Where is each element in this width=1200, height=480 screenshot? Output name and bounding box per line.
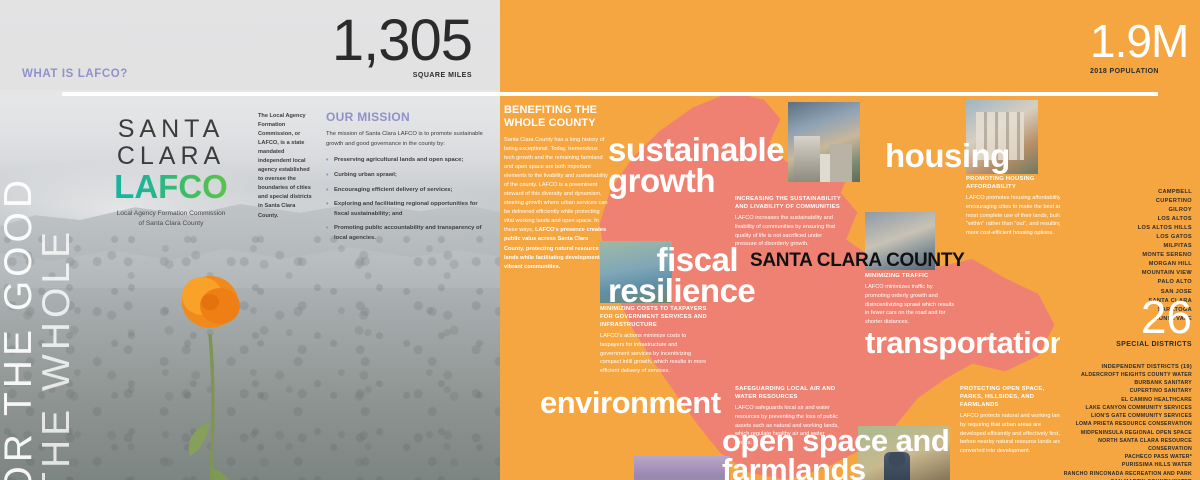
stat-special-districts: 26 SPECIAL DISTRICTS <box>1116 294 1192 348</box>
independent-district-item: EL CAMINO HEALTHCARE <box>1060 396 1192 404</box>
caption-sustainability-body: LAFCO increases the sustainability and l… <box>735 214 843 249</box>
logo-line-santa: SANTA <box>86 116 256 143</box>
theme-word-transportation: transportation <box>865 328 1060 357</box>
benefiting-column: BENEFITING THE WHOLE COUNTY Santa Clara … <box>504 104 608 272</box>
caption-minimizing-traffic-body: LAFCO minimizes traffic by promoting ord… <box>865 283 957 327</box>
stat-square-miles-value: 1,305 <box>322 12 472 70</box>
independent-district-item: MIDPENINSULA REGIONAL OPEN SPACE <box>1060 429 1192 437</box>
stat-population-2018-caption: 2018 POPULATION <box>1090 67 1188 77</box>
caption-safeguarding-air-water-heading: SAFEGUARDING LOCAL AIR AND WATER RESOURC… <box>735 385 843 401</box>
photo-urban-street <box>788 102 860 182</box>
independent-district-item: BURBANK SANITARY <box>1060 379 1192 387</box>
mission-bullet: Preserving agricultural lands and open s… <box>326 156 492 166</box>
logo-wordmark: LAFCO <box>86 170 256 205</box>
mission-bullet: Curbing urban sprawl; <box>326 171 492 181</box>
stats-banner: 1.9M 2018 POPULATION 2.3M PROJECTED POPU… <box>500 0 1200 96</box>
page-title: WHAT IS LAFCO? <box>22 68 128 80</box>
independent-district-item: LAKE CANYON COMMUNITY SERVICES <box>1060 404 1192 412</box>
mission-column: OUR MISSION The mission of Santa Clara L… <box>326 110 492 248</box>
caption-safeguarding-air-water-body: LAFCO safeguards local air and water res… <box>735 404 843 448</box>
lafco-logo: SANTA CLARA LAFCO Local Agency Formation… <box>86 116 256 228</box>
mission-bullet-list: Preserving agricultural lands and open s… <box>326 156 492 243</box>
districts-lists: INDEPENDENT DISTRICTS (19) ALDERCROFT HE… <box>1060 358 1192 480</box>
city-list-item: LOS ALTOS HILLS <box>1138 224 1192 233</box>
poppy-leaf-left <box>189 422 209 456</box>
districts-panel: CAMPBELLCUPERTINOGILROYLOS ALTOSLOS ALTO… <box>1060 96 1200 480</box>
caption-minimizing-traffic-heading: MINIMIZING TRAFFIC <box>865 272 957 280</box>
caption-minimizing-costs: MINIMIZING COSTS TO TAXPAYERS FOR GOVERN… <box>600 305 708 376</box>
independent-district-item: LION'S GATE COMMUNITY SERVICES <box>1060 412 1192 420</box>
mission-intro: The mission of Santa Clara LAFCO is to p… <box>326 130 492 149</box>
city-list-item: MORGAN HILL <box>1138 260 1192 269</box>
poppy-stem <box>206 334 213 480</box>
mission-title: OUR MISSION <box>326 110 492 124</box>
poppy-center <box>201 294 219 310</box>
poppy-flower-illustration <box>176 272 256 368</box>
caption-protecting-open-space-body: LAFCO protects natural and working lands… <box>960 412 1060 456</box>
city-list-item: GILROY <box>1138 206 1192 215</box>
poppy-leaf-right <box>211 468 232 480</box>
caption-housing-affordability: PROMOTING HOUSING AFFORDABILITY LAFCO pr… <box>966 175 1060 238</box>
tagline-line-2: OF THE WHOLE <box>37 228 76 480</box>
map-county-label: SANTA CLARA COUNTY <box>750 251 965 270</box>
caption-housing-affordability-body: LAFCO promotes housing affordability by … <box>966 194 1060 238</box>
tagline-line-1: FOR THE GOOD <box>0 176 38 480</box>
mission-bullet: Encouraging efficient delivery of servic… <box>326 186 492 196</box>
independent-district-item: RANCHO RINCONADA RECREATION AND PARK <box>1060 470 1192 478</box>
benefiting-body: Santa Clara County has a long history of… <box>504 136 608 272</box>
mission-bullet: Promoting public accountability and tran… <box>326 224 492 243</box>
city-list-item: MOUNTAIN VIEW <box>1138 269 1192 278</box>
independent-districts-heading: INDEPENDENT DISTRICTS (19) <box>1060 364 1192 370</box>
independent-district-item: PURISSIMA HILLS WATER <box>1060 461 1192 469</box>
caption-minimizing-costs-body: LAFCO's actions minimize costs to taxpay… <box>600 332 708 376</box>
caption-sustainability-heading: INCREASING THE SUSTAINABILITY AND LIVABI… <box>735 195 843 211</box>
independent-district-item: CUPERTINO SANITARY <box>1060 387 1192 395</box>
caption-housing-affordability-heading: PROMOTING HOUSING AFFORDABILITY <box>966 175 1060 191</box>
theme-word-fiscal-resilience: fiscal resilience <box>608 244 738 307</box>
logo-line-clara: CLARA <box>86 143 256 170</box>
city-list-item: CAMPBELL <box>1138 188 1192 197</box>
caption-safeguarding-air-water: SAFEGUARDING LOCAL AIR AND WATER RESOURC… <box>735 385 843 448</box>
theme-word-sustainable-growth: sustainable growth <box>608 134 788 197</box>
city-list-item: MILPITAS <box>1138 242 1192 251</box>
city-list-item: LOS ALTOS <box>1138 215 1192 224</box>
mission-bullet: Exploring and facilitating regional oppo… <box>326 200 492 219</box>
independent-districts-list: ALDERCROFT HEIGHTS COUNTY WATERBURBANK S… <box>1060 371 1192 480</box>
benefiting-body-regular: Santa Clara County has a long history of… <box>504 137 608 233</box>
infographic-page: FOR THE GOOD OF THE WHOLE WHAT IS LAFCO?… <box>0 0 1200 480</box>
stat-population-2018: 1.9M 2018 POPULATION <box>1090 18 1188 77</box>
city-list-item: MONTE SERENO <box>1138 251 1192 260</box>
map-section: BENEFITING THE WHOLE COUNTY Santa Clara … <box>500 96 1060 480</box>
theme-word-environment: environment <box>540 388 721 417</box>
theme-word-housing: housing <box>885 140 1010 171</box>
caption-minimizing-traffic: MINIMIZING TRAFFIC LAFCO minimizes traff… <box>865 272 957 327</box>
stat-special-districts-value: 26 <box>1116 294 1192 340</box>
stat-square-miles-caption: SQUARE MILES <box>322 72 472 79</box>
stat-square-miles: 1,305 SQUARE MILES <box>322 12 472 79</box>
poppy-svg <box>176 272 256 480</box>
independent-district-item: PACHECO PASS WATER* <box>1060 453 1192 461</box>
caption-protecting-open-space: PROTECTING OPEN SPACE, PARKS, HILLSIDES,… <box>960 385 1060 456</box>
benefiting-title: BENEFITING THE WHOLE COUNTY <box>504 104 608 130</box>
header-divider-rule <box>62 92 1158 96</box>
stat-population-2018-value: 1.9M <box>1090 18 1188 64</box>
caption-sustainability: INCREASING THE SUSTAINABILITY AND LIVABI… <box>735 195 843 249</box>
caption-protecting-open-space-heading: PROTECTING OPEN SPACE, PARKS, HILLSIDES,… <box>960 385 1060 409</box>
photo-flower-field <box>634 456 730 480</box>
city-list-item: PALO ALTO <box>1138 278 1192 287</box>
logo-subtitle: Local Agency Formation Commission of San… <box>86 209 256 229</box>
about-column: The Local Agency Formation Commission, o… <box>258 112 316 221</box>
independent-district-item: ALDERCROFT HEIGHTS COUNTY WATER <box>1060 371 1192 379</box>
caption-minimizing-costs-heading: MINIMIZING COSTS TO TAXPAYERS FOR GOVERN… <box>600 305 708 329</box>
about-text: The Local Agency Formation Commission, o… <box>258 112 316 221</box>
independent-district-item: NORTH SANTA CLARA RESOURCE CONSERVATION <box>1060 437 1192 453</box>
independent-district-item: LOMA PRIETA RESOURCE CONSERVATION <box>1060 420 1192 428</box>
city-list-item: CUPERTINO <box>1138 197 1192 206</box>
city-list-item: LOS GATOS <box>1138 233 1192 242</box>
stat-special-districts-caption: SPECIAL DISTRICTS <box>1116 341 1192 348</box>
benefiting-body-bold: LAFCO's presence creates public value ac… <box>504 227 607 269</box>
